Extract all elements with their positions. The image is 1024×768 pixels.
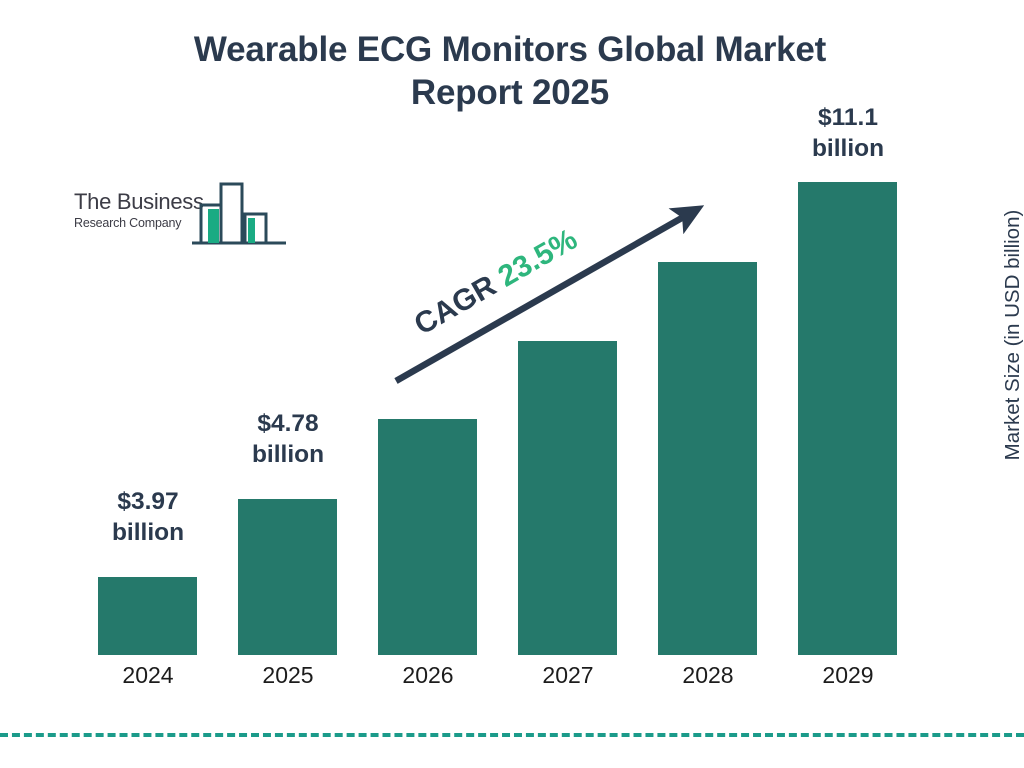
xtick-2027: 2027 xyxy=(508,662,628,689)
plot-area: $3.97 billion $4.78 billion $11.1 billio… xyxy=(0,0,1024,768)
footer-divider xyxy=(0,733,1024,737)
bar-value-2024-amount: $3.97 xyxy=(88,487,208,518)
bar-value-2029-unit: billion xyxy=(788,134,908,165)
bar-2027 xyxy=(518,341,617,655)
bar-2028 xyxy=(658,262,757,655)
bar-value-2025-amount: $4.78 xyxy=(228,409,348,440)
bar-value-2025-unit: billion xyxy=(228,440,348,471)
bar-2029 xyxy=(798,182,897,655)
xtick-2025: 2025 xyxy=(228,662,348,689)
xtick-2026: 2026 xyxy=(368,662,488,689)
bar-2025 xyxy=(238,499,337,655)
bar-2026 xyxy=(378,419,477,655)
bar-value-2029: $11.1 billion xyxy=(788,103,908,164)
xtick-2024: 2024 xyxy=(88,662,208,689)
y-axis-label: Market Size (in USD billion) xyxy=(1001,165,1024,505)
xtick-2028: 2028 xyxy=(648,662,768,689)
bar-value-2029-amount: $11.1 xyxy=(788,103,908,134)
bar-2024 xyxy=(98,577,197,655)
bar-value-2024: $3.97 billion xyxy=(88,487,208,548)
bar-value-2025: $4.78 billion xyxy=(228,409,348,470)
bar-value-2024-unit: billion xyxy=(88,518,208,549)
xtick-2029: 2029 xyxy=(788,662,908,689)
chart-canvas: Wearable ECG Monitors Global Market Repo… xyxy=(0,0,1024,768)
